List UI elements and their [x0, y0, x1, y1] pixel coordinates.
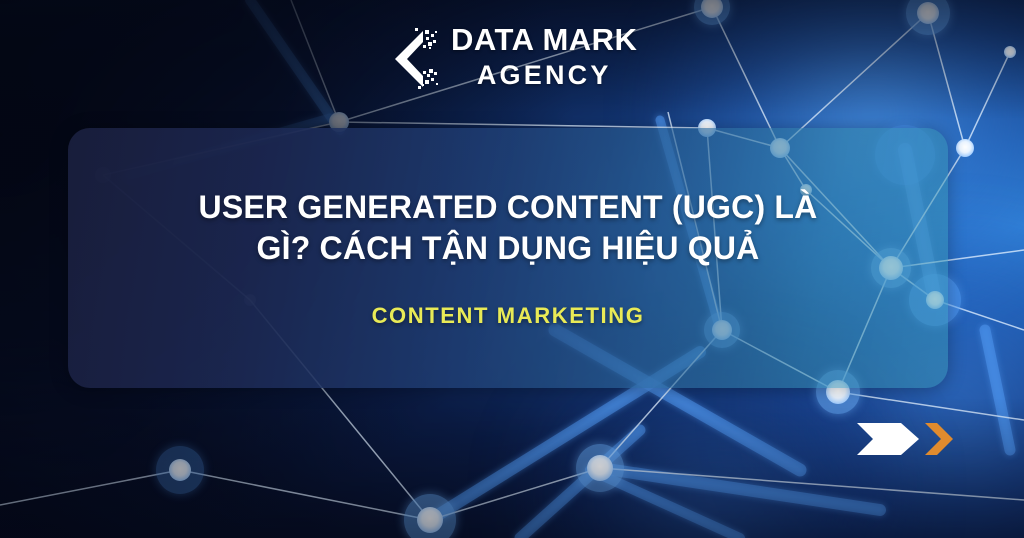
brand-subtitle: AGENCY [477, 60, 612, 91]
content-card-inner: USER GENERATED CONTENT (UGC) LÀ GÌ? CÁCH… [68, 128, 948, 388]
page-title: USER GENERATED CONTENT (UGC) LÀ GÌ? CÁCH… [199, 187, 818, 269]
datamark-chevron-logo-icon [393, 28, 439, 90]
page-title-line-1: USER GENERATED CONTENT (UGC) LÀ [199, 187, 818, 228]
banner-canvas: DATA MARK AGENCY USER GENERATED CONTENT … [0, 0, 1024, 538]
brand-title: DATA MARK [451, 24, 637, 57]
page-title-line-2: GÌ? CÁCH TẬN DỤNG HIỆU QUẢ [199, 228, 818, 269]
double-chevron-arrow-icon [855, 419, 955, 459]
content-card: USER GENERATED CONTENT (UGC) LÀ GÌ? CÁCH… [68, 128, 948, 388]
brand-logo-text: DATA MARK AGENCY [451, 24, 637, 91]
category-label: CONTENT MARKETING [372, 303, 645, 329]
brand-logo: DATA MARK AGENCY [393, 24, 637, 91]
